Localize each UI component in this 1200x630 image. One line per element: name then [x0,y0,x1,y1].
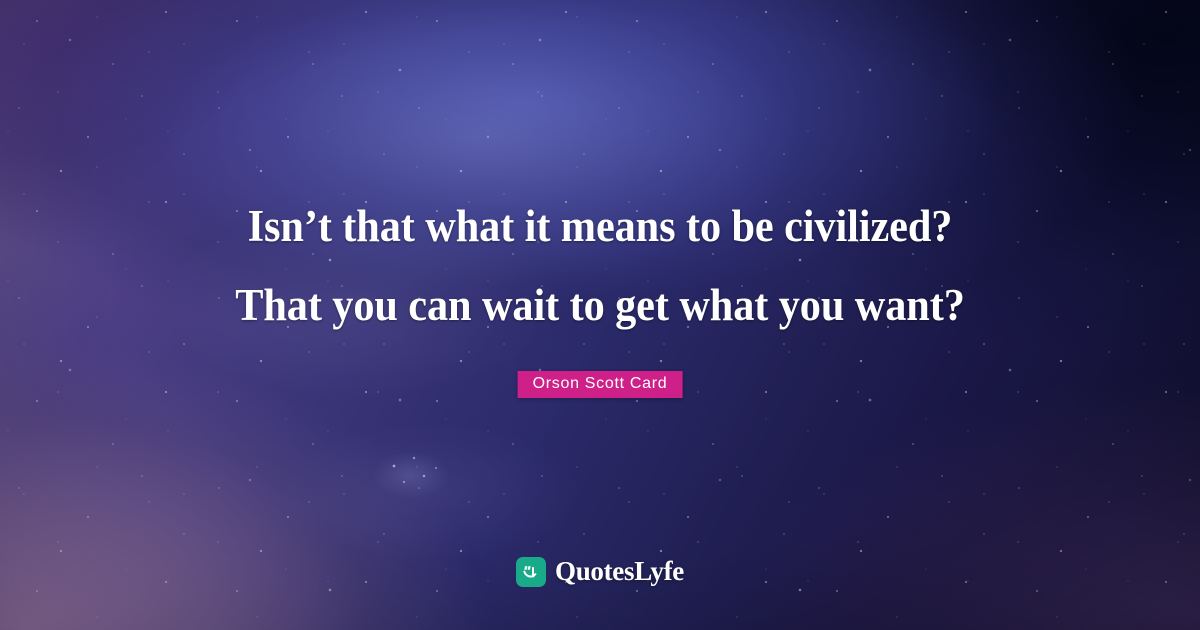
quote-line-2: That you can wait to get what you want? [36,283,1164,328]
author-badge: Orson Scott Card [518,371,683,398]
card-content: Isn’t that what it means to be civilized… [0,0,1200,630]
quote-mark-icon [516,557,546,587]
brand-name: QuotesLyfe [555,556,684,587]
brand-logo[interactable]: QuotesLyfe [516,556,684,587]
quote-line-1: Isn’t that what it means to be civilized… [36,204,1164,249]
quote-text: Isn’t that what it means to be civilized… [0,204,1200,328]
quote-card: Isn’t that what it means to be civilized… [0,0,1200,630]
